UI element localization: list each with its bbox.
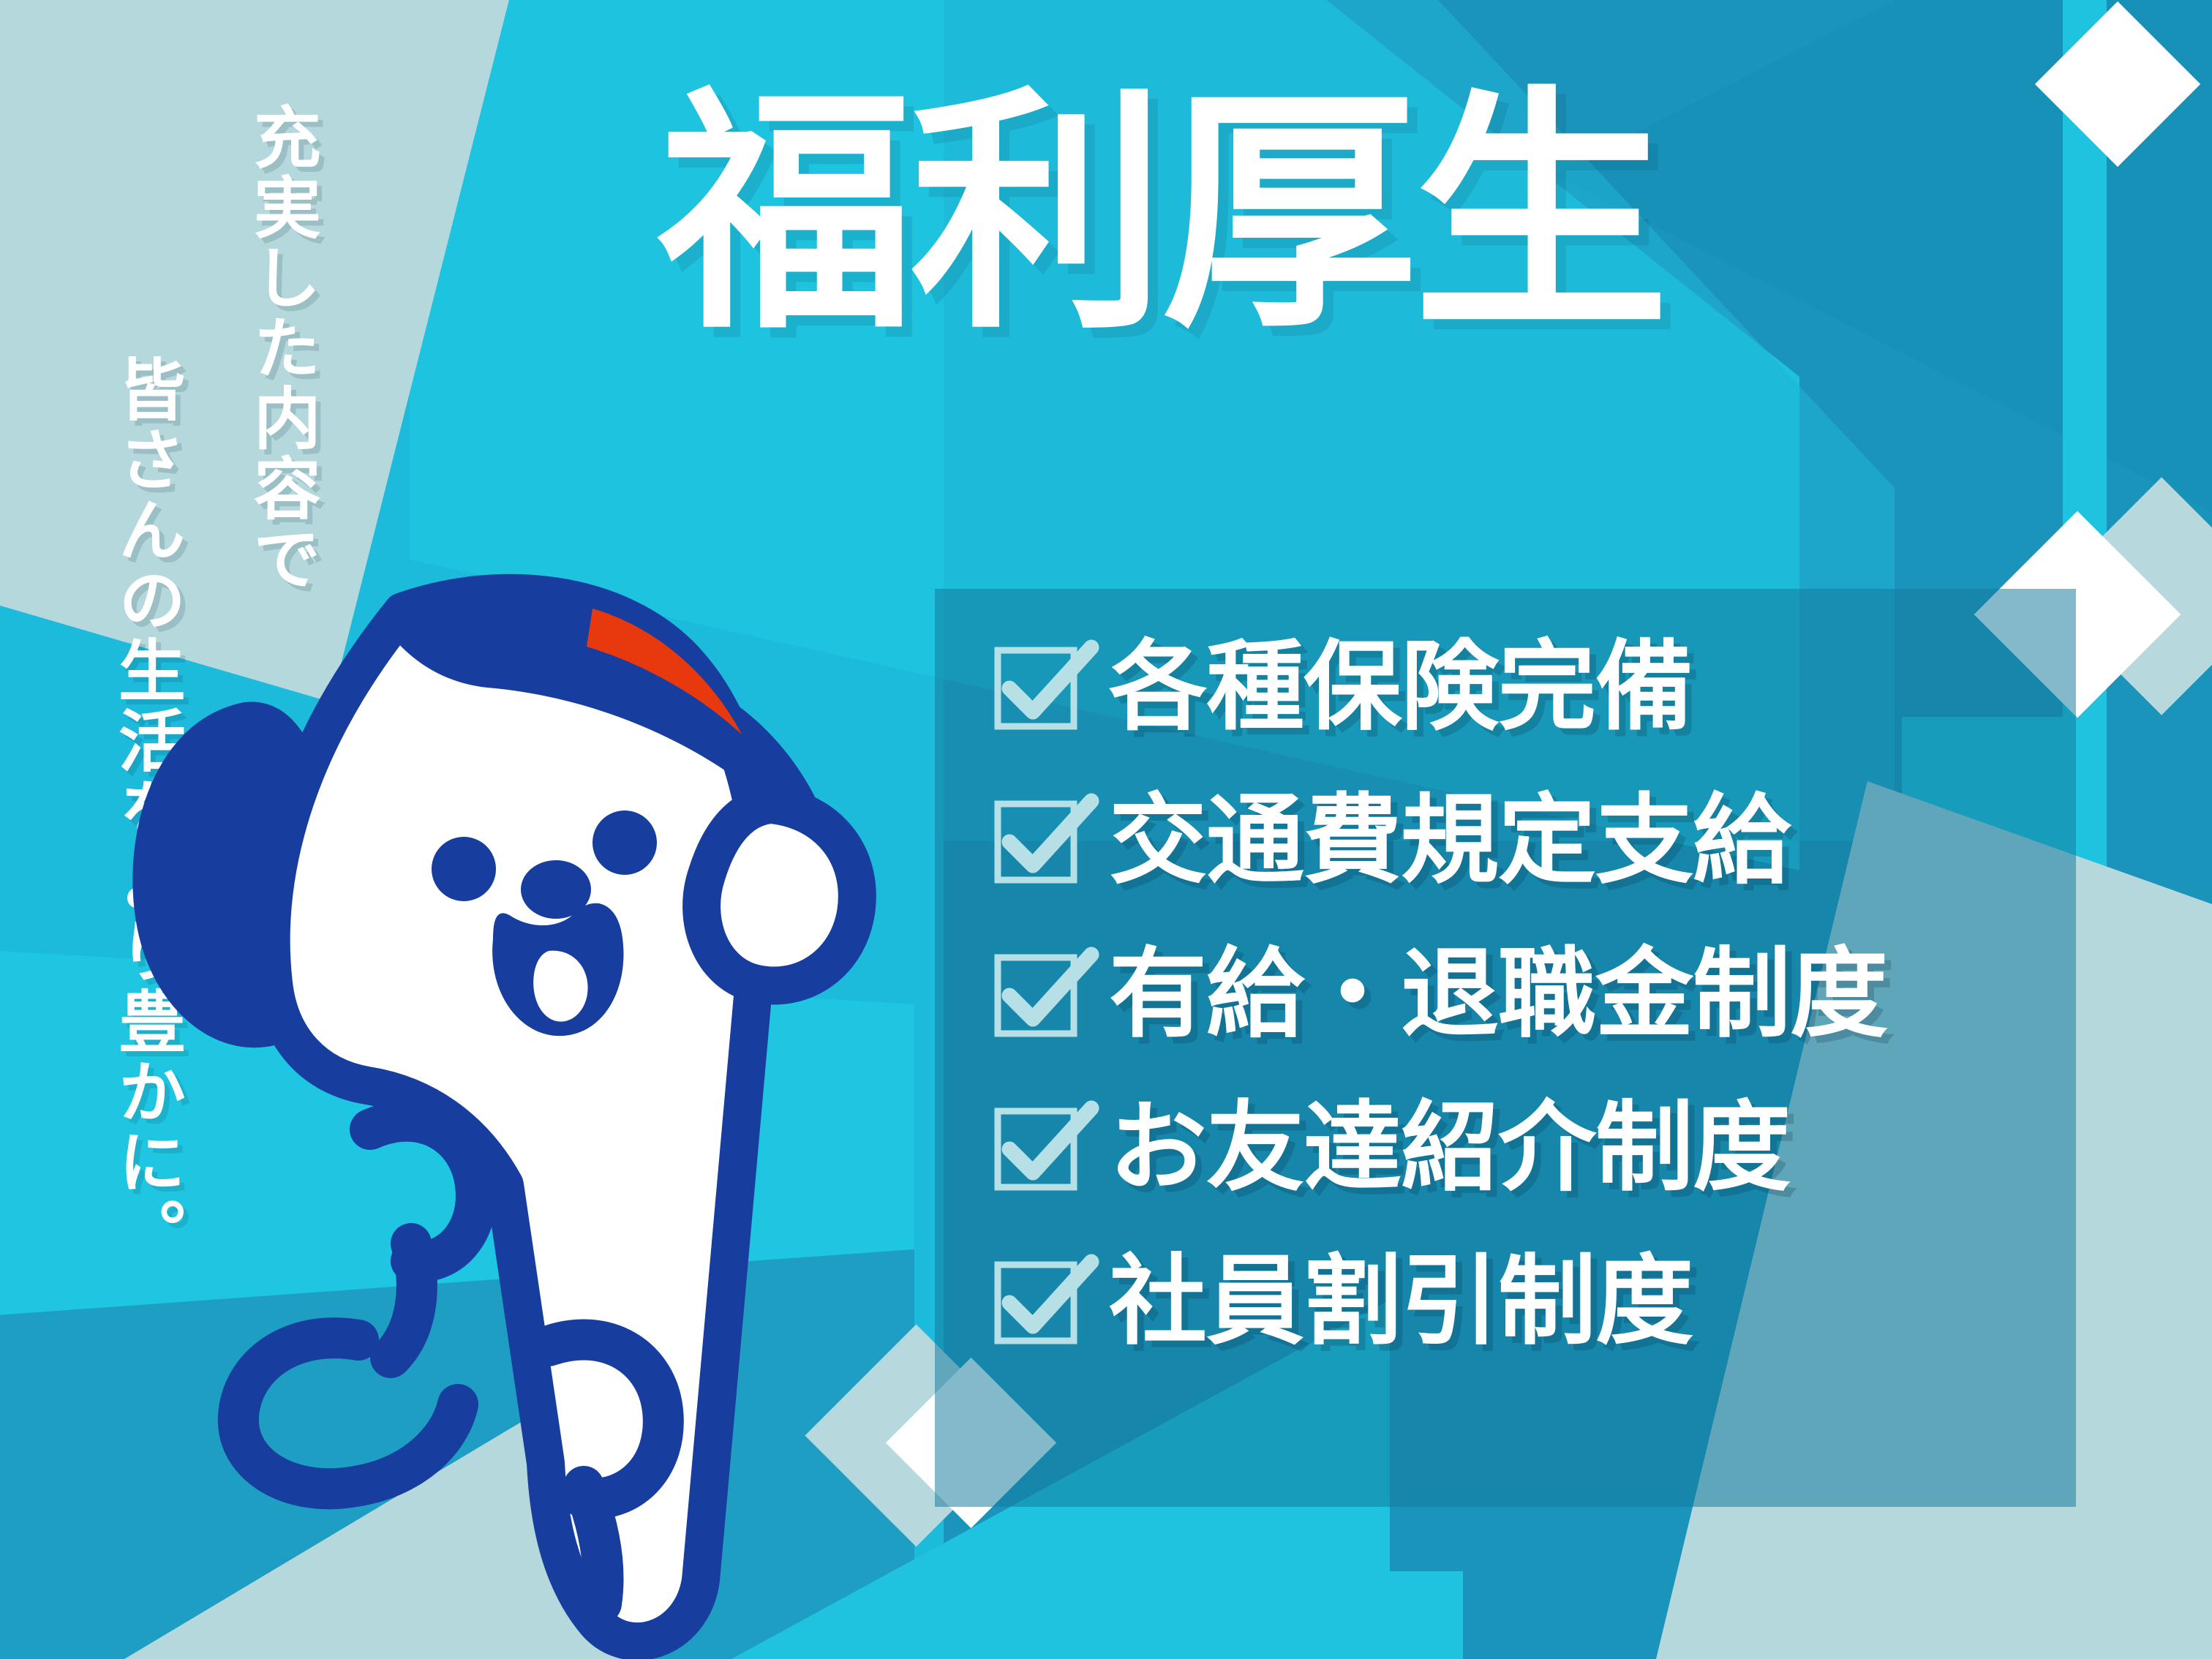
tagline-line-1: 充実した内容で <box>245 102 317 594</box>
list-item[interactable]: 社員割引制度 <box>993 1233 2105 1370</box>
list-item-label: 社員割引制度 <box>1109 1252 1693 1350</box>
list-item-label: お友達紹介制度 <box>1109 1099 1790 1197</box>
list-item[interactable]: 交通費規定支給 <box>993 772 2105 909</box>
checkbox-checked-icon[interactable] <box>993 643 1081 731</box>
checkbox-checked-icon[interactable] <box>993 1104 1081 1192</box>
list-item-label: 各種保険完備 <box>1109 638 1693 736</box>
checkbox-checked-icon[interactable] <box>993 797 1081 884</box>
checkbox-checked-icon[interactable] <box>993 950 1081 1038</box>
poster-canvas: 充実した内容で 皆さんの生活をより豊かに。 福利厚生 <box>0 0 2212 1659</box>
list-item-label: 有給・退職金制度 <box>1109 945 1887 1043</box>
benefits-list: 各種保険完備 交通費規定支給 有給・退職金制度 <box>993 618 2105 1370</box>
page-title: 福利厚生 <box>658 86 1665 342</box>
list-item-label: 交通費規定支給 <box>1109 791 1790 889</box>
list-item[interactable]: 有給・退職金制度 <box>993 925 2105 1063</box>
list-item[interactable]: 各種保険完備 <box>993 618 2105 756</box>
list-item[interactable]: お友達紹介制度 <box>993 1079 2105 1216</box>
checkbox-checked-icon[interactable] <box>993 1257 1081 1345</box>
dog-mascot-with-cap-icon <box>110 556 987 1659</box>
